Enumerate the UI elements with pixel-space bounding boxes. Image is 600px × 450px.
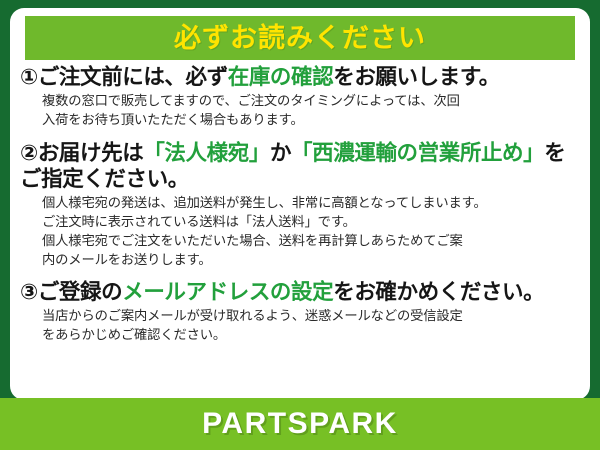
item-marker: ②: [20, 141, 38, 165]
heading-highlight: 「西濃運輸の営業所止め」: [291, 141, 544, 165]
heading-highlight: メールアドレスの設定: [122, 280, 333, 304]
heading-highlight: 在庫の確認: [228, 65, 334, 89]
notice-item-1: ①ご注文前には、必ず在庫の確認をお願いします。 複数の窓口で販売してますので、ご…: [20, 64, 582, 130]
notice-item-1-heading: ①ご注文前には、必ず在庫の確認をお願いします。: [20, 64, 582, 90]
heading-part: をお願いします。: [333, 65, 500, 89]
sub-line: 当店からのご案内メールが受け取れるよう、迷惑メールなどの受信設定: [42, 307, 582, 326]
item-marker: ①: [20, 65, 38, 89]
heading-part: をお確かめください。: [333, 280, 544, 304]
footer-band: PARTSPARK: [0, 398, 600, 450]
sub-line: 個人様宅宛の発送は、追加送料が発生し、非常に高額となってしまいます。: [42, 194, 582, 213]
notice-item-2-subtext: 個人様宅宛の発送は、追加送料が発生し、非常に高額となってしまいます。 ご注文時に…: [20, 194, 582, 270]
header-band: 必ずお読みください: [25, 16, 575, 60]
sub-line: 内のメールをお送りします。: [42, 251, 582, 270]
sub-line: 入荷をお待ち頂いたただく場合もあります。: [42, 111, 582, 130]
heading-part: ご登録の: [38, 280, 122, 304]
heading-part: お届け先は: [38, 141, 144, 165]
notice-card: 必ずお読みください ①ご注文前には、必ず在庫の確認をお願いします。 複数の窓口で…: [0, 0, 600, 450]
notice-body: ①ご注文前には、必ず在庫の確認をお願いします。 複数の窓口で販売してますので、ご…: [10, 64, 590, 352]
heading-part: ご注文前には、必ず: [38, 65, 228, 89]
notice-item-3: ③ご登録のメールアドレスの設定をお確かめください。 当店からのご案内メールが受け…: [20, 279, 582, 345]
notice-item-2: ②お届け先は「法人様宛」か「西濃運輸の営業所止め」をご指定ください。 個人様宅宛…: [20, 140, 582, 270]
page-title: 必ずお読みください: [174, 25, 426, 52]
notice-item-3-heading: ③ご登録のメールアドレスの設定をお確かめください。: [20, 279, 582, 305]
notice-item-1-subtext: 複数の窓口で販売してますので、ご注文のタイミングによっては、次回 入荷をお待ち頂…: [20, 92, 582, 130]
heading-highlight: 「法人様宛」: [143, 141, 270, 165]
notice-item-2-heading: ②お届け先は「法人様宛」か「西濃運輸の営業所止め」をご指定ください。: [20, 140, 582, 192]
sub-line: 個人様宅宛でご注文をいただいた場合、送料を再計算しあらためてご案: [42, 232, 582, 251]
sub-line: 複数の窓口で販売してますので、ご注文のタイミングによっては、次回: [42, 92, 582, 111]
item-marker: ③: [20, 280, 38, 304]
sub-line: ご注文時に表示されている送料は「法人送料」です。: [42, 213, 582, 232]
notice-panel: 必ずお読みください ①ご注文前には、必ず在庫の確認をお願いします。 複数の窓口で…: [10, 8, 590, 400]
notice-item-3-subtext: 当店からのご案内メールが受け取れるよう、迷惑メールなどの受信設定 をあらかじめご…: [20, 307, 582, 345]
brand-logo-text: PARTSPARK: [202, 409, 398, 439]
sub-line: をあらかじめご確認ください。: [42, 326, 582, 345]
heading-part: か: [270, 141, 291, 165]
